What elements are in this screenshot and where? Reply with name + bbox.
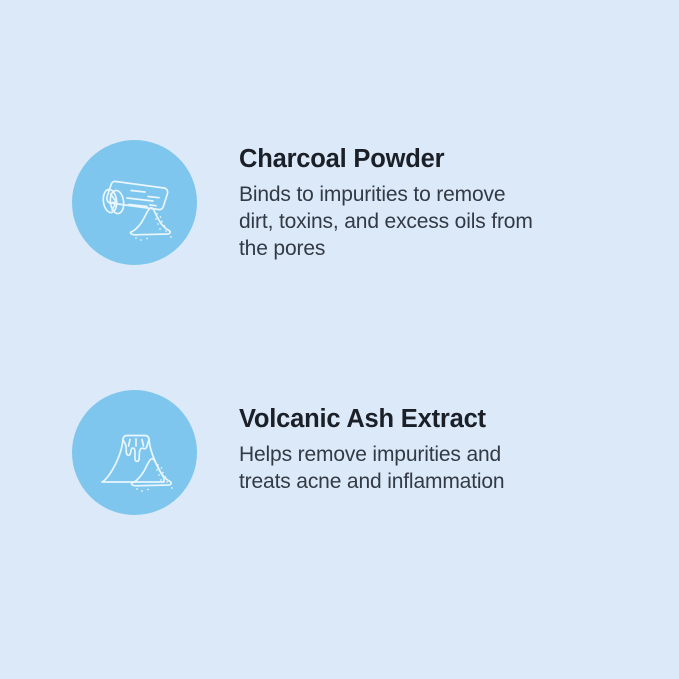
description-line: Binds to impurities to remove [239, 181, 599, 208]
description-line: Helps remove impurities and [239, 441, 599, 468]
feature-text-block: Charcoal Powder Binds to impurities to r… [239, 140, 599, 262]
feature-description: Binds to impurities to remove dirt, toxi… [239, 181, 599, 263]
ingredient-benefits-page: Charcoal Powder Binds to impurities to r… [0, 0, 679, 679]
feature-text-block: Volcanic Ash Extract Helps remove impuri… [239, 390, 599, 495]
feature-list: Charcoal Powder Binds to impurities to r… [0, 0, 679, 679]
feature-item-volcanic-ash-extract: Volcanic Ash Extract Helps remove impuri… [72, 390, 599, 515]
feature-description: Helps remove impurities and treats acne … [239, 441, 599, 496]
feature-title: Volcanic Ash Extract [239, 406, 599, 434]
feature-item-charcoal-powder: Charcoal Powder Binds to impurities to r… [72, 140, 599, 265]
charcoal-log-powder-icon [72, 140, 197, 265]
feature-title: Charcoal Powder [239, 146, 599, 174]
description-line: dirt, toxins, and excess oils from [239, 208, 599, 235]
description-line: the pores [239, 235, 599, 262]
volcano-ash-powder-icon [72, 390, 197, 515]
description-line: treats acne and inflammation [239, 468, 599, 495]
